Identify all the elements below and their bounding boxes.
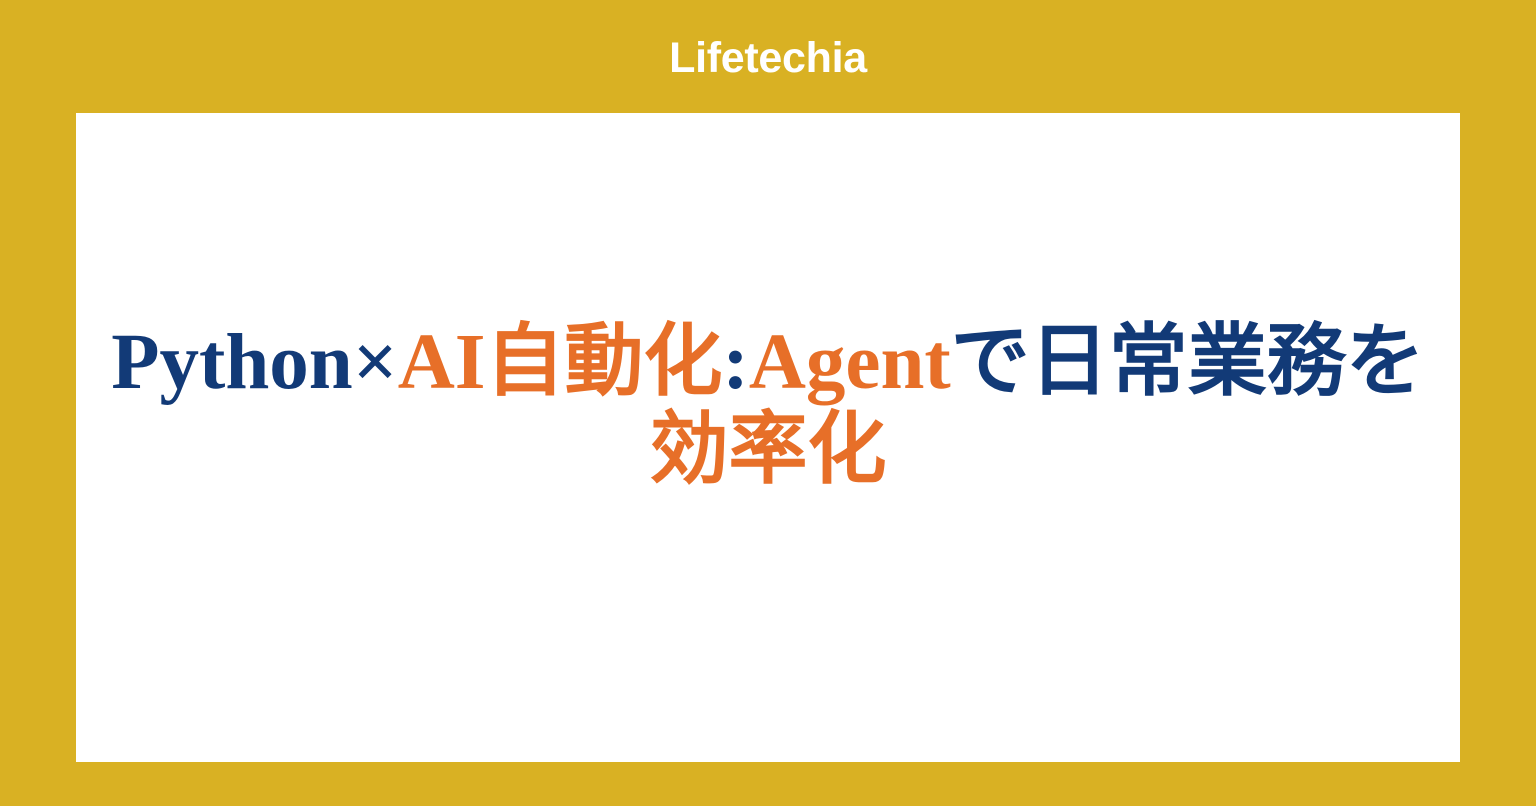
title-segment-colon: : bbox=[723, 319, 749, 406]
title-segment-python-cross: Python× bbox=[111, 319, 397, 406]
title-segment-daily-work: で日常業務を bbox=[951, 319, 1425, 406]
content-card: Python×AI自動化:Agentで日常業務を効率化 bbox=[76, 113, 1460, 762]
title-segment-agent: Agent bbox=[749, 319, 951, 406]
title-segment-efficiency: 効率化 bbox=[650, 407, 887, 494]
article-title: Python×AI自動化:Agentで日常業務を効率化 bbox=[103, 319, 1433, 495]
site-header-band: Lifetechia bbox=[0, 0, 1536, 113]
thumbnail-canvas: Lifetechia Python×AI自動化:Agentで日常業務を効率化 bbox=[0, 0, 1536, 806]
site-title: Lifetechia bbox=[669, 37, 867, 80]
title-segment-ai-automation: AI自動化 bbox=[398, 319, 723, 406]
